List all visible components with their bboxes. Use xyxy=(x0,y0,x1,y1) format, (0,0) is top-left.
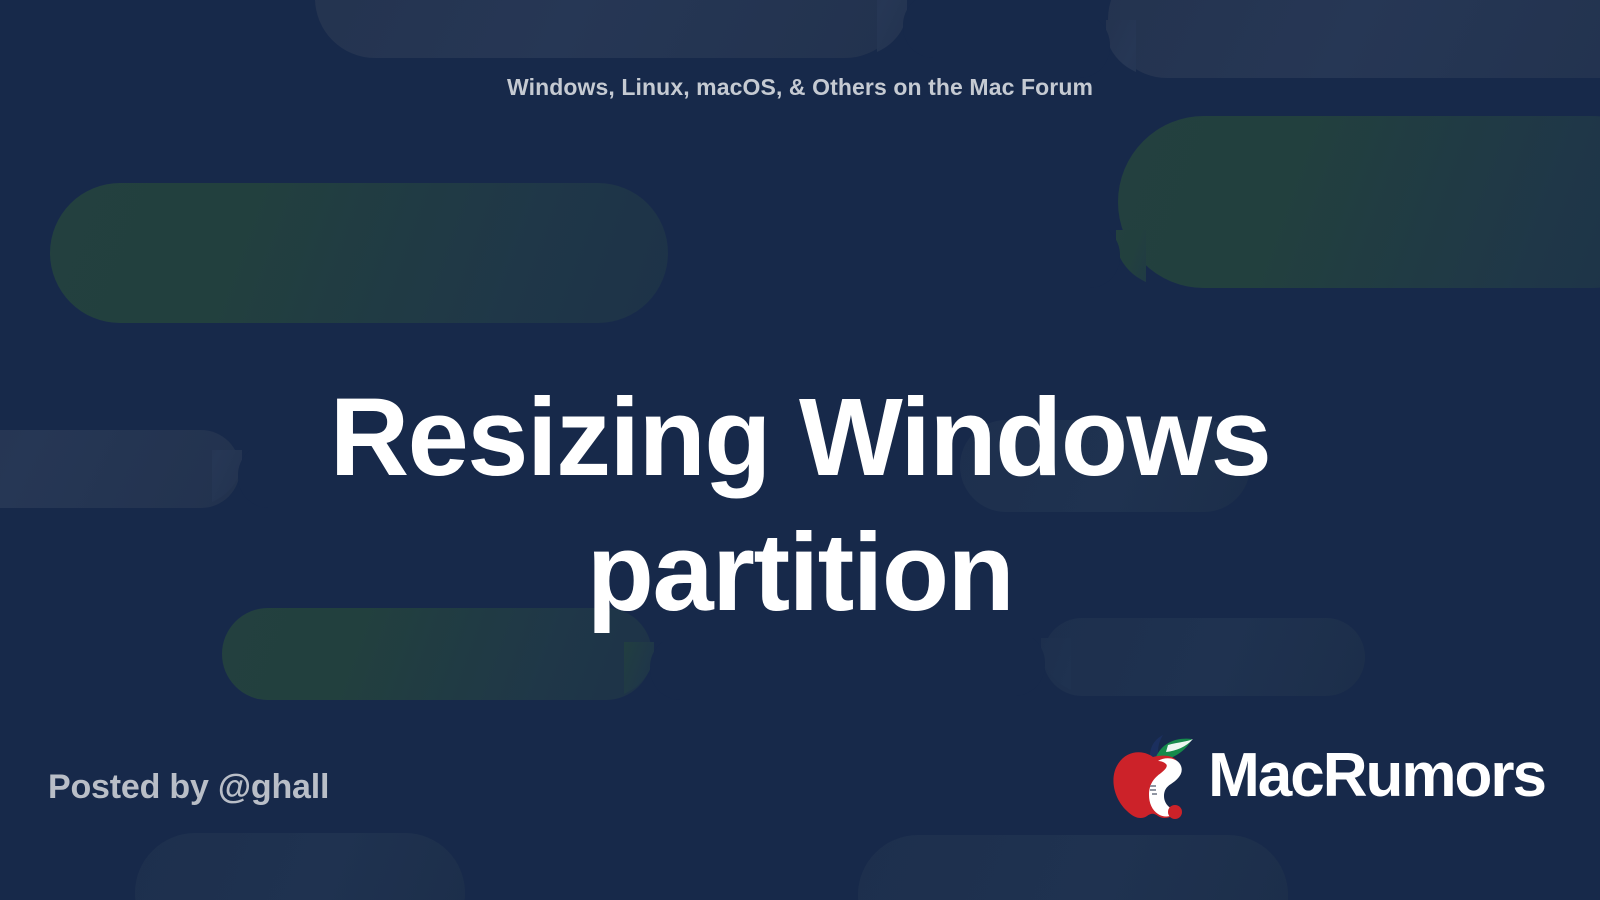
posted-by-label: Posted by @ghall xyxy=(48,768,329,807)
share-card: Windows, Linux, macOS, & Others on the M… xyxy=(0,0,1600,900)
apple-icon xyxy=(1106,733,1202,823)
macrumors-logo: MacRumors xyxy=(1106,733,1545,823)
page-title: Resizing Windows partition xyxy=(120,370,1480,640)
forum-name: Windows, Linux, macOS, & Others on the M… xyxy=(0,74,1600,101)
brand-wordmark: MacRumors xyxy=(1208,745,1545,807)
card-content: Windows, Linux, macOS, & Others on the M… xyxy=(0,0,1600,900)
